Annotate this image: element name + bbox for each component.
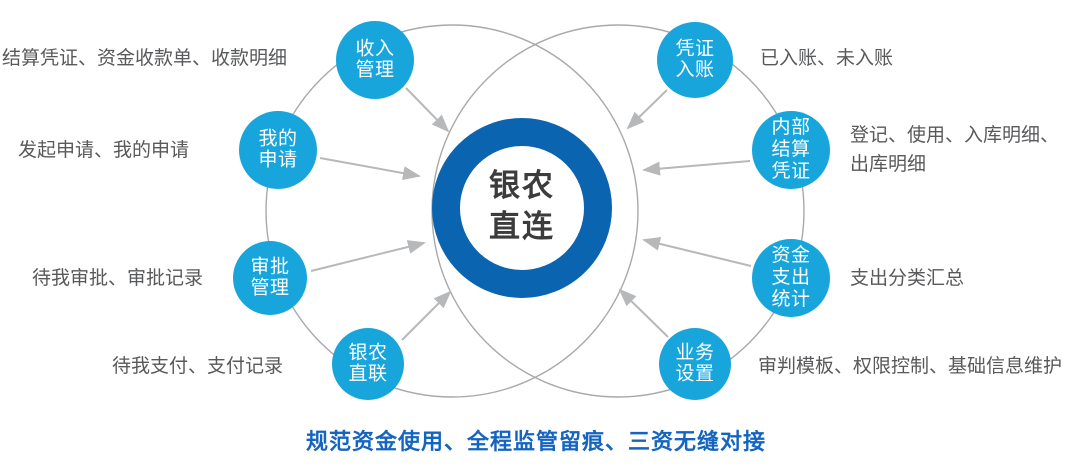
node-label-internal-settlement-voucher-line-1: 内部 (771, 116, 810, 138)
node-internal-settlement-voucher[interactable]: 内部结算凭证 (752, 111, 830, 189)
hub-label-line-2: 直连 (489, 209, 555, 244)
node-my-application[interactable]: 我的申请 (239, 111, 317, 189)
hub-node[interactable]: 银农 直连 (446, 132, 598, 284)
node-label-fund-expense-statistics-line-1: 资金 (771, 244, 810, 266)
node-label-fund-expense-statistics-line-2: 支出 (771, 266, 810, 288)
node-label-internal-settlement-voucher-line-3: 凭证 (771, 160, 810, 182)
my-application-label: 发起申请、我的申请 (18, 136, 218, 165)
node-label-business-settings-line-1: 业务 (675, 342, 714, 364)
business-settings-label: 审判模板、权限控制、基础信息维护 (758, 352, 1072, 381)
node-voucher-entry[interactable]: 凭证入账 (657, 22, 733, 98)
caption-text: 规范资金使用、全程监管留痕、三资无缝对接 (0, 424, 1072, 456)
node-approval-management[interactable]: 审批管理 (233, 241, 307, 315)
fund-expense-statistics-label: 支出分类汇总 (850, 264, 1030, 293)
arrow-application-to-hub (320, 158, 419, 176)
node-label-income-management-line-2: 管理 (355, 59, 394, 81)
node-bank-agri-link[interactable]: 银农直联 (332, 328, 404, 400)
voucher-entry-label: 已入账、未入账 (760, 44, 960, 73)
node-business-settings[interactable]: 业务设置 (659, 328, 731, 400)
node-label-fund-expense-statistics-line-3: 统计 (771, 288, 810, 310)
node-label-approval-management-line-2: 管理 (250, 277, 289, 299)
node-income-management[interactable]: 收入管理 (336, 21, 414, 99)
node-fund-expense-statistics[interactable]: 资金支出统计 (752, 239, 830, 317)
income-management-label: 结算凭证、资金收款单、收款明细 (2, 44, 318, 73)
node-label-voucher-entry-line-1: 凭证 (675, 38, 714, 60)
node-label-my-application-line-2: 申请 (258, 149, 297, 171)
arrow-settings-to-hub (620, 290, 668, 337)
internal-settlement-voucher-label: 登记、使用、入库明细、 出库明细 (850, 121, 1072, 179)
arrow-settlement-to-hub (644, 161, 750, 170)
node-label-voucher-entry-line-2: 入账 (675, 59, 714, 81)
backbone-circle-2 (432, 25, 804, 397)
hub-ring (446, 132, 598, 284)
arrow-income-to-hub (406, 88, 448, 131)
arrow-link-to-hub (402, 292, 450, 340)
node-label-income-management-line-1: 收入 (355, 38, 394, 60)
node-label-bank-agri-link-line-1: 银农 (348, 342, 387, 364)
approval-management-label: 待我审批、审批记录 (32, 264, 222, 293)
arrow-voucher-to-hub (628, 90, 667, 128)
node-label-internal-settlement-voucher-line-2: 结算 (771, 138, 810, 160)
node-label-bank-agri-link-line-2: 直联 (348, 363, 387, 385)
node-label-my-application-line-1: 我的 (258, 128, 297, 150)
bank-agri-link-label: 待我支付、支付记录 (112, 352, 307, 381)
hub-label-line-1: 银农 (489, 168, 555, 203)
diagram-canvas: 银农 直连 收入管理我的申请审批管理银农直联凭证入账内部结算凭证资金支出统计业务… (0, 0, 1072, 471)
arrow-expense-to-hub (644, 240, 751, 266)
arrow-approval-to-hub (311, 243, 424, 271)
node-label-approval-management-line-1: 审批 (250, 256, 289, 278)
node-label-business-settings-line-2: 设置 (675, 363, 714, 385)
